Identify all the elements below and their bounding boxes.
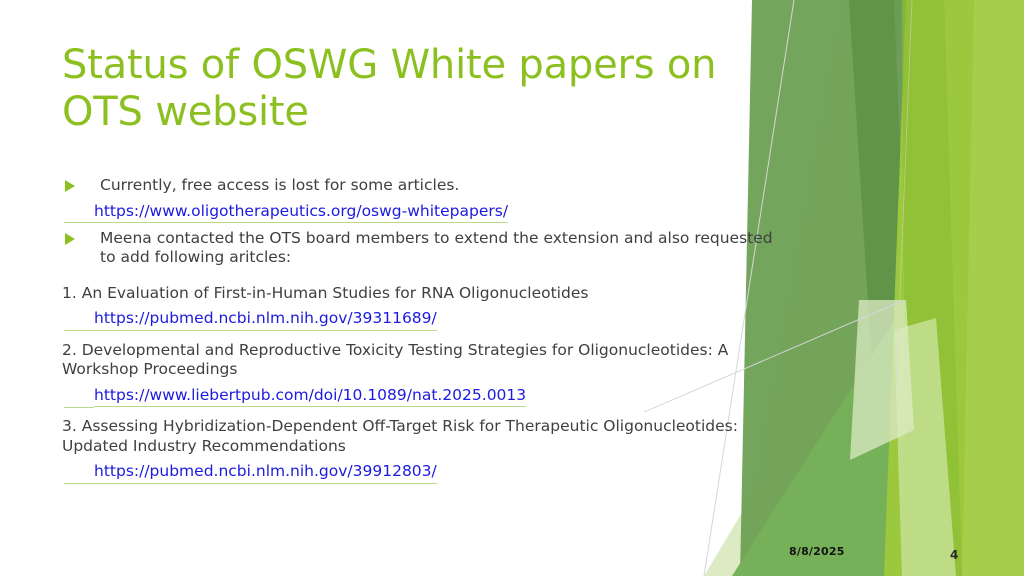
numbered-item-2: 2. Developmental and Reproductive Toxici… xyxy=(62,341,774,380)
facet-shape-light-streak-a xyxy=(894,318,956,576)
triangle-bullet-icon xyxy=(65,233,75,245)
facet-shape-dark-green xyxy=(849,0,924,430)
link-row-oswg: https://www.oligotherapeutics.org/oswg-w… xyxy=(62,201,774,223)
link-item-3-pubmed[interactable]: https://pubmed.ncbi.nlm.nih.gov/39912803… xyxy=(94,462,437,483)
link-oswg-whitepapers[interactable]: https://www.oligotherapeutics.org/oswg-w… xyxy=(94,202,508,223)
link-item-2-liebertpub[interactable]: https://www.liebertpub.com/doi/10.1089/n… xyxy=(94,386,526,407)
link-item-1-pubmed[interactable]: https://pubmed.ncbi.nlm.nih.gov/39311689… xyxy=(94,309,437,330)
triangle-bullet-icon xyxy=(65,180,75,192)
facet-hairline-vertical xyxy=(894,0,912,440)
slide-title: Status of OSWG White papers on OTS websi… xyxy=(62,42,722,136)
link-row-item-2: https://www.liebertpub.com/doi/10.1089/n… xyxy=(62,385,774,407)
footer-date: 8/8/2025 xyxy=(789,545,845,558)
bullet-item-1-text: Currently, free access is lost for some … xyxy=(100,176,774,196)
facet-shape-light-streak-b xyxy=(850,300,914,460)
facet-shape-bright-right xyxy=(884,0,1024,576)
numbered-item-1: 1. An Evaluation of First-in-Human Studi… xyxy=(62,284,774,304)
slide-body: Currently, free access is lost for some … xyxy=(62,176,774,490)
link-row-item-3: https://pubmed.ncbi.nlm.nih.gov/39912803… xyxy=(62,461,774,483)
slide-number: 4 xyxy=(950,548,958,562)
spacer xyxy=(62,270,774,274)
slide-canvas: Status of OSWG White papers on OTS websi… xyxy=(0,0,1024,576)
bullet-item-2-text: Meena contacted the OTS board members to… xyxy=(100,229,774,268)
bullet-item-1: Currently, free access is lost for some … xyxy=(62,176,774,196)
facet-shape-bright-right-2 xyxy=(962,0,1024,576)
facet-shape-bright-mid xyxy=(902,0,962,576)
bullet-item-2: Meena contacted the OTS board members to… xyxy=(62,229,774,268)
link-row-item-1: https://pubmed.ncbi.nlm.nih.gov/39311689… xyxy=(62,308,774,330)
numbered-item-3: 3. Assessing Hybridization-Dependent Off… xyxy=(62,417,774,456)
